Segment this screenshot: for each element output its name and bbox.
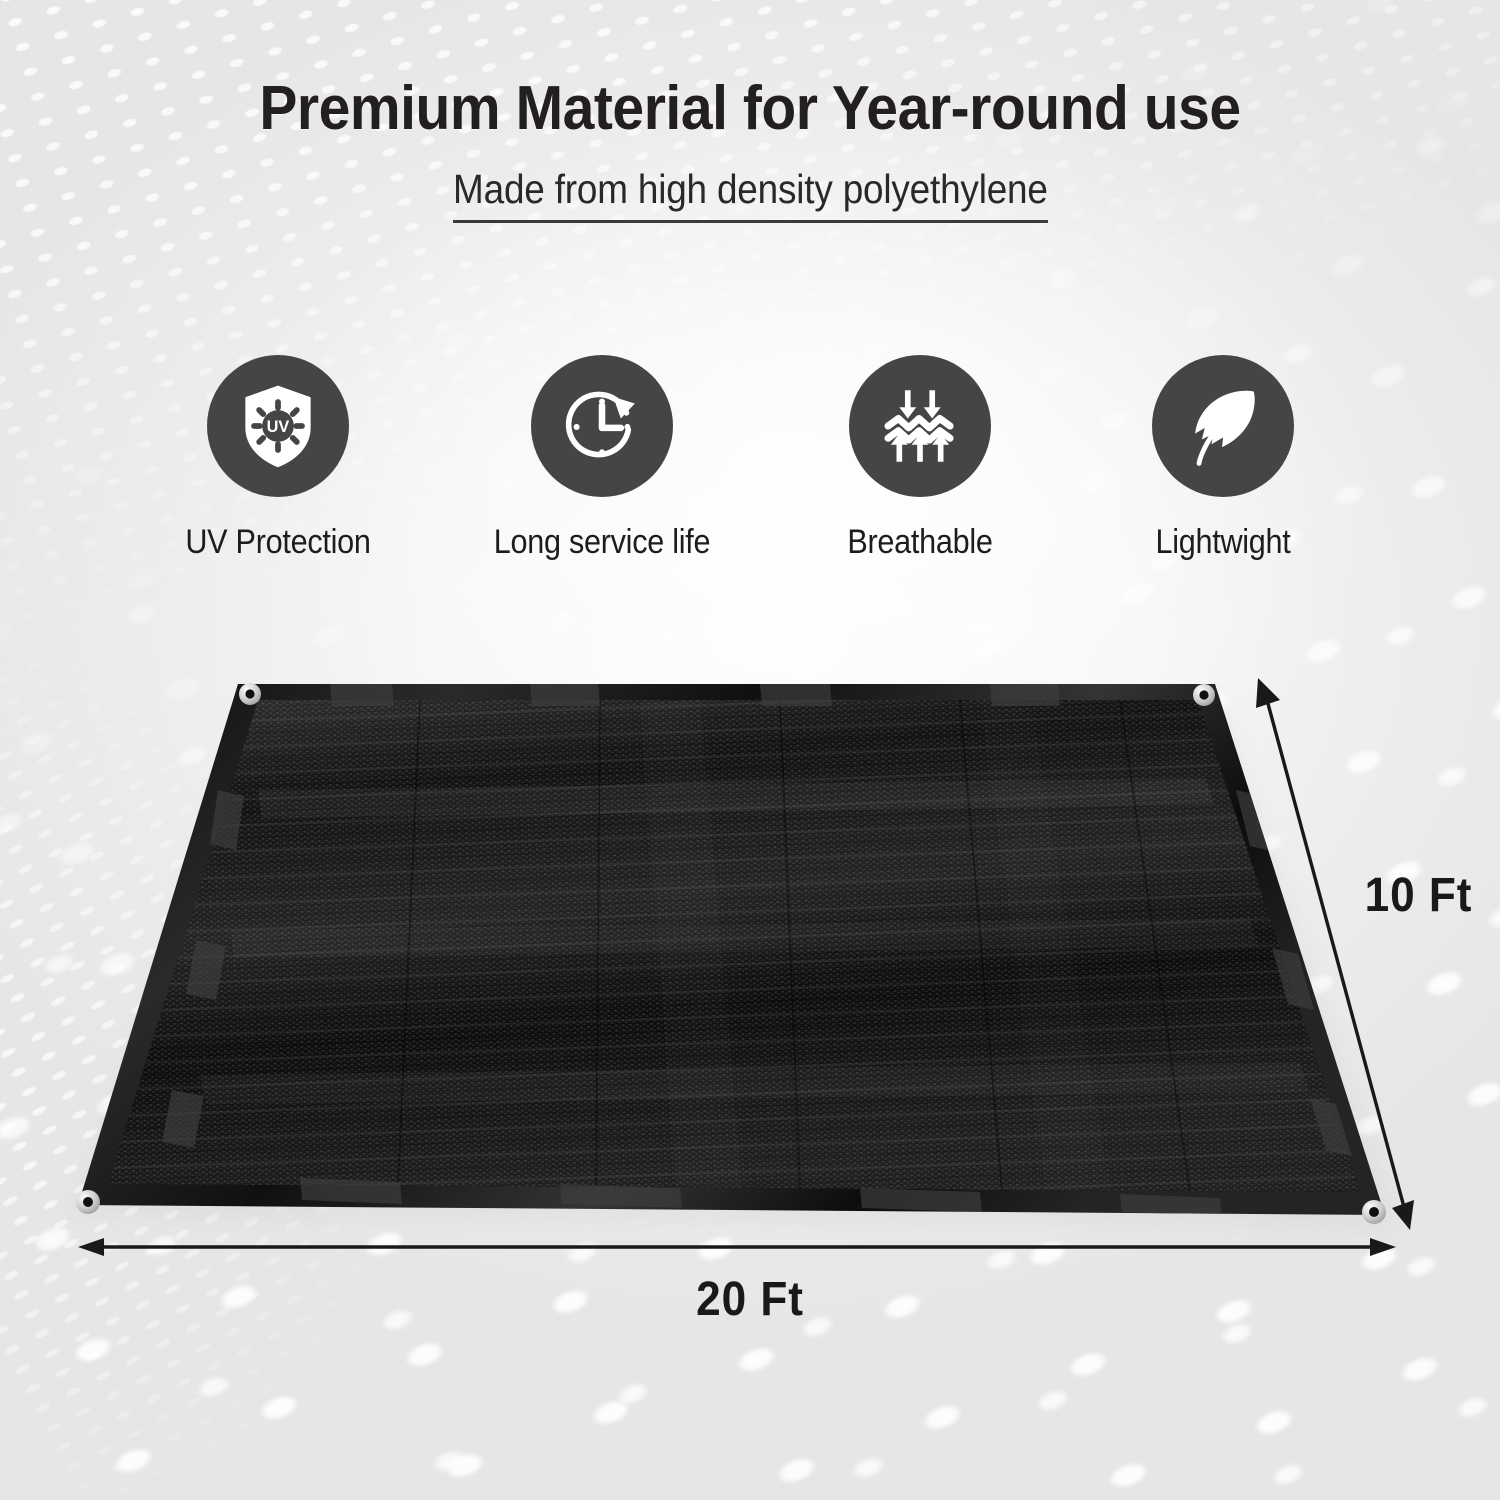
dimension-arrow-width xyxy=(78,1238,1396,1256)
feature-item-breathable: Breathable xyxy=(770,355,1070,562)
breathable-waves-icon xyxy=(873,379,967,473)
clock-refresh-icon xyxy=(555,379,649,473)
grommet-bottom-right xyxy=(1362,1200,1386,1224)
grommet-bottom-left xyxy=(76,1190,100,1214)
feature-item-lightweight: Lightwight xyxy=(1073,355,1373,562)
uv-shield-icon: UV xyxy=(230,378,326,474)
dimension-label-height: 10 Ft xyxy=(1365,868,1473,923)
feature-item-long-service-life: Long service life xyxy=(452,355,752,562)
grommet-top-left xyxy=(239,683,261,705)
feather-icon xyxy=(1175,378,1271,474)
feature-badge-feather xyxy=(1152,355,1294,497)
feature-badge-breathable xyxy=(849,355,991,497)
feature-badge-clock xyxy=(531,355,673,497)
page-subtitle: Made from high density polyethylene xyxy=(453,166,1048,223)
svg-text:UV: UV xyxy=(267,418,290,436)
feature-list: UV UV Protection xyxy=(0,355,1500,565)
feature-label-breathable: Breathable xyxy=(785,523,1055,562)
feature-label-long-service-life: Long service life xyxy=(467,523,737,562)
cloth-mesh-field xyxy=(108,700,1360,1192)
feature-label-uv-protection: UV Protection xyxy=(143,523,413,562)
feature-item-uv-protection: UV UV Protection xyxy=(128,355,428,562)
feature-label-lightweight: Lightwight xyxy=(1088,523,1358,562)
headline-block: Premium Material for Year-round use Made… xyxy=(0,76,1500,223)
dimension-label-width: 20 Ft xyxy=(60,1272,1440,1327)
feature-badge-uv: UV xyxy=(207,355,349,497)
subheadline-wrap: Made from high density polyethylene xyxy=(0,166,1500,223)
grommet-top-right xyxy=(1193,684,1215,706)
page-title: Premium Material for Year-round use xyxy=(60,76,1440,142)
infographic-canvas: Premium Material for Year-round use Made… xyxy=(0,0,1500,1500)
